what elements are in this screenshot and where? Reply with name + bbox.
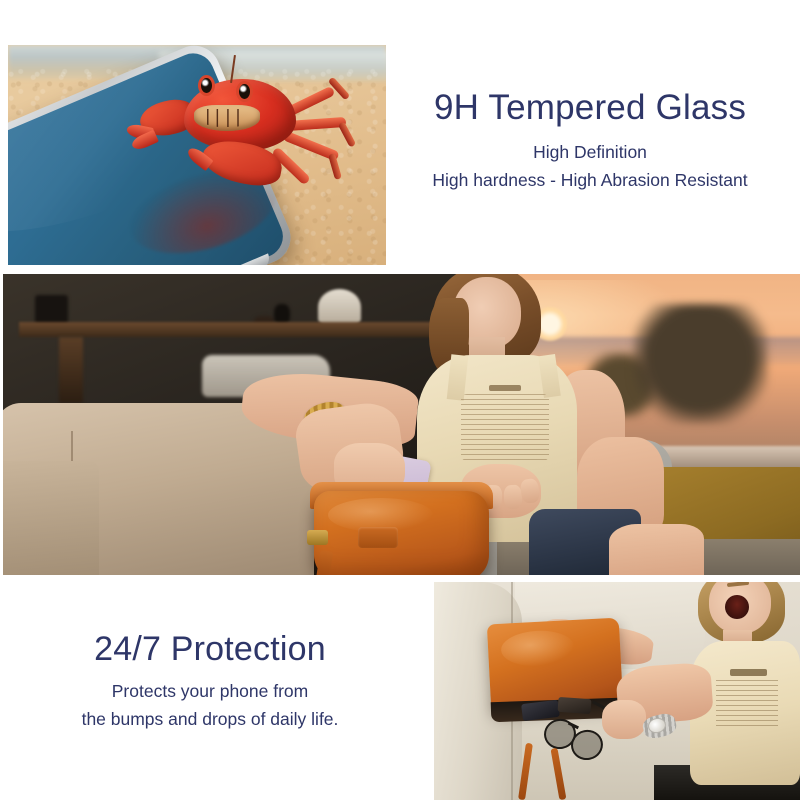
protection-text-block: 24/7 Protection Protects your phone from… <box>10 630 410 733</box>
orange-leather-bag <box>314 491 489 575</box>
console-shelf <box>19 322 433 337</box>
console-leg <box>59 337 83 403</box>
falling-wallet <box>558 696 592 714</box>
bottom-subline-1: Protects your phone from <box>10 678 410 704</box>
crab-on-phone-photo <box>8 45 386 265</box>
tee-print-title <box>489 385 521 391</box>
top-headline: 9H Tempered Glass <box>390 88 790 127</box>
claw-pincer <box>185 145 213 171</box>
bag-zipper-pull <box>307 530 328 545</box>
tempered-glass-text-block: 9H Tempered Glass High Definition High h… <box>390 88 790 194</box>
finger <box>503 484 522 509</box>
sofa-arm-left <box>3 461 99 575</box>
crab-eye-right <box>236 81 253 102</box>
top-subline-1: High Definition <box>390 139 790 165</box>
bag-spilling-photo <box>434 582 800 800</box>
tee-print-text <box>716 680 778 728</box>
crab-eye-left <box>198 75 215 96</box>
background-tree <box>633 304 768 424</box>
open-mouth <box>725 595 749 619</box>
bag-highlight <box>500 629 574 668</box>
shelf-vase <box>35 295 68 325</box>
shelf-lamp <box>318 289 361 325</box>
tee-print-text <box>461 394 549 460</box>
phone-into-bag-photo <box>3 274 800 575</box>
bag-front-tab <box>358 527 398 548</box>
top-subline-2: High hardness - High Abrasion Resistant <box>390 167 790 193</box>
crab-mouth <box>202 109 250 127</box>
bottom-headline: 24/7 Protection <box>10 630 410 668</box>
woman-hand-near <box>602 700 646 739</box>
woman-leg <box>609 524 705 575</box>
tee-print-title <box>730 669 767 676</box>
bottom-subline-2: the bumps and drops of daily life. <box>10 706 410 732</box>
crab-graphic <box>136 57 336 217</box>
